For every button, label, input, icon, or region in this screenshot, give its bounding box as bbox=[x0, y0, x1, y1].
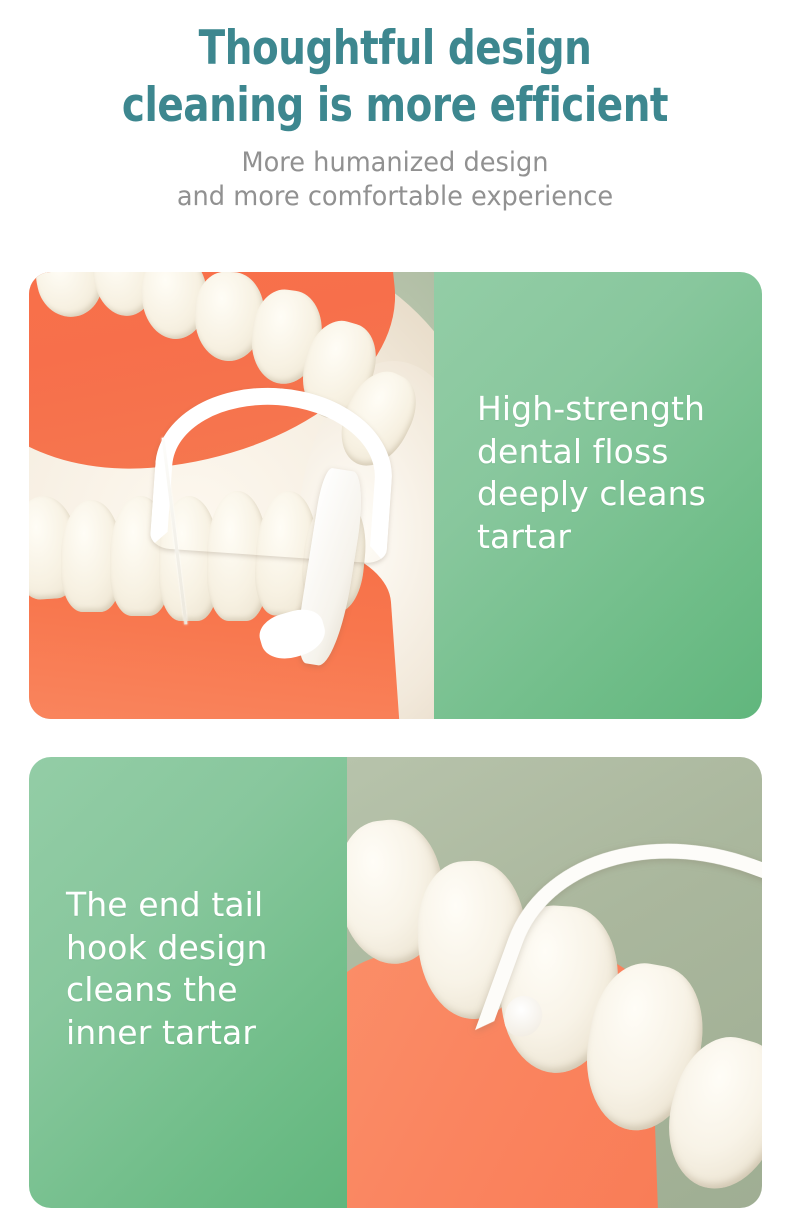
feature-caption: The end tail hook design cleans the inne… bbox=[66, 884, 341, 1054]
hook-tip-closeup-illustration bbox=[347, 757, 762, 1208]
dental-floss-pick-illustration bbox=[29, 272, 434, 719]
feature-text-panel-high-strength-floss: High-strength dental floss deeply cleans… bbox=[434, 272, 762, 719]
feature-photo-dental-model-with-floss-pick bbox=[29, 272, 434, 719]
page-title-line-2: cleaning is more efficient bbox=[32, 77, 759, 134]
feature-caption-line-3: cleans the bbox=[66, 969, 341, 1012]
feature-photo-closeup-hook-tip-cleaning-teeth bbox=[347, 757, 762, 1208]
feature-caption-line-2: dental floss bbox=[477, 431, 757, 474]
page-subtitle: More humanized design and more comfortab… bbox=[20, 146, 771, 214]
page-title: Thoughtful design cleaning is more effic… bbox=[32, 0, 759, 134]
page-header: Thoughtful design cleaning is more effic… bbox=[0, 0, 790, 214]
page-title-line-1: Thoughtful design bbox=[32, 20, 759, 77]
feature-caption-line-1: The end tail bbox=[66, 884, 341, 927]
product-feature-page: Thoughtful design cleaning is more effic… bbox=[0, 0, 790, 1226]
feature-caption-line-4: inner tartar bbox=[66, 1012, 341, 1055]
feature-text-panel-end-tail-hook: The end tail hook design cleans the inne… bbox=[29, 757, 347, 1208]
feature-caption-line-1: High-strength bbox=[477, 388, 757, 431]
feature-caption: High-strength dental floss deeply cleans… bbox=[477, 388, 757, 558]
feature-caption-line-4: tartar bbox=[477, 516, 757, 559]
feature-card-high-strength-floss: High-strength dental floss deeply cleans… bbox=[29, 272, 762, 719]
feature-caption-line-2: hook design bbox=[66, 927, 341, 970]
feature-card-end-tail-hook: The end tail hook design cleans the inne… bbox=[29, 757, 762, 1208]
feature-caption-line-3: deeply cleans bbox=[477, 473, 757, 516]
page-subtitle-line-1: More humanized design bbox=[20, 146, 771, 180]
page-subtitle-line-2: and more comfortable experience bbox=[20, 180, 771, 214]
